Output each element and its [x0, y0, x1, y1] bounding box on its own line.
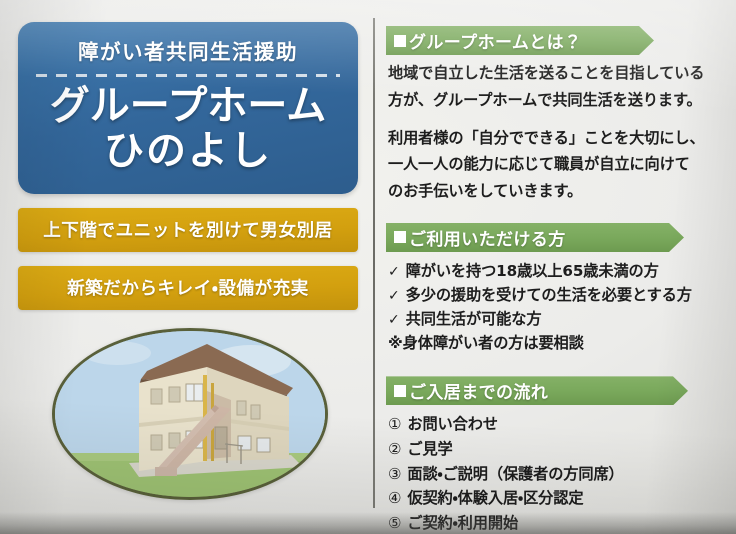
list-item-text: ご見学 [407, 437, 452, 461]
building-photo-area [18, 326, 358, 496]
list-item-text: ご契約・利用開始 [407, 511, 518, 534]
step-number-icon: ⑤ [388, 512, 401, 534]
check-icon: ✓ [388, 261, 400, 283]
paragraph-line: 一人一人の能力に応じて職員が自立に向けて [388, 153, 726, 176]
list-item: ⑤ ご契約・利用開始 [388, 511, 726, 534]
section-heading-2-text: ご利用いただける方 [409, 225, 566, 250]
section-admission-flow: ご入居までの流れ ① お問い合わせ ② ご見学 ③ 面談・ご説明（保護者の方同席… [386, 376, 726, 534]
section-heading-1-text: グループホームとは？ [409, 28, 581, 53]
feature-banner-1: 上下階でユニットを別けて男女別居 [18, 208, 358, 252]
feature-banner-2-label: 新築だからキレイ・設備が充実 [67, 279, 309, 299]
right-column: グループホームとは？ 地域で自立した生活を送ることを目指している 方が、グループ… [386, 26, 726, 534]
paragraph-line: 利用者様の「自分でできる」ことを大切にし、 [388, 127, 726, 150]
section-heading-bar-1: グループホームとは？ [386, 26, 726, 55]
section-heading-bar-3: ご入居までの流れ [386, 376, 726, 405]
title-subtitle: 障がい者共同生活援助 [32, 35, 344, 65]
building-illustration [55, 331, 325, 497]
check-icon: ✓ [388, 309, 400, 331]
list-item-text: お問い合わせ [407, 412, 498, 436]
list-item-text: 障がいを持つ18歳以上65歳未満の方 [406, 259, 659, 283]
list-item-text: 面談・ご説明（保護者の方同席） [407, 462, 623, 486]
left-column: 障がい者共同生活援助 グループホーム ひのよし 上下階でユニットを別けて男女別居… [18, 22, 358, 496]
step-number-icon: ② [388, 438, 401, 462]
column-divider [373, 18, 375, 508]
feature-banner-1-label: 上下階でユニットを別けて男女別居 [43, 221, 333, 241]
paragraph-line: 地域で自立した生活を送ることを目指している [388, 62, 726, 85]
section-heading-3-label-wrap: ご入居までの流れ [394, 376, 548, 405]
building-photo-oval-frame [52, 328, 328, 500]
reference-mark-icon: ※ [388, 331, 403, 355]
list-item-text: 多少の援助を受けての生活を必要とする方 [406, 283, 692, 307]
paragraph-line: のお手伝いをしていきます。 [388, 180, 726, 203]
feature-banner-2: 新築だからキレイ・設備が充実 [18, 266, 358, 310]
section-heading-1-label-wrap: グループホームとは？ [394, 26, 581, 55]
list-item: ② ご見学 [388, 437, 726, 462]
facility-name-line1: グループホーム [32, 84, 344, 129]
white-square-bullet-icon [394, 385, 406, 397]
list-item: ① お問い合わせ [388, 412, 726, 437]
section-what-is-group-home: グループホームとは？ 地域で自立した生活を送ることを目指している 方が、グループ… [386, 26, 726, 203]
step-number-icon: ④ [388, 487, 401, 511]
title-card: 障がい者共同生活援助 グループホーム ひのよし [18, 22, 358, 194]
list-item: ④ 仮契約・体験入居・区分認定 [388, 486, 726, 511]
check-icon: ✓ [388, 285, 400, 307]
list-item-text: 共同生活が可能な方 [406, 307, 542, 331]
paragraph-line: 方が、グループホームで共同生活を送ります。 [388, 89, 726, 112]
section-heading-3-text: ご入居までの流れ [409, 378, 548, 403]
white-square-bullet-icon [394, 231, 406, 243]
admission-flow-list: ① お問い合わせ ② ご見学 ③ 面談・ご説明（保護者の方同席） ④ 仮契約・体… [386, 412, 726, 534]
section-heading-2-label-wrap: ご利用いただける方 [394, 223, 566, 252]
brochure-page: 障がい者共同生活援助 グループホーム ひのよし 上下階でユニットを別けて男女別居… [0, 0, 736, 534]
list-item: ③ 面談・ご説明（保護者の方同席） [388, 462, 726, 487]
list-item-text: 仮契約・体験入居・区分認定 [407, 486, 583, 510]
dashed-divider [36, 74, 340, 77]
step-number-icon: ③ [388, 463, 401, 487]
list-item: ✓ 多少の援助を受けての生活を必要とする方 [388, 283, 726, 307]
step-number-icon: ① [388, 413, 401, 437]
white-square-bullet-icon [394, 35, 406, 47]
list-item: ✓ 共同生活が可能な方 [388, 307, 726, 331]
eligibility-note-text: 身体障がい者の方は要相談 [403, 331, 584, 355]
eligibility-list: ✓ 障がいを持つ18歳以上65歳未満の方 ✓ 多少の援助を受けての生活を必要とす… [386, 259, 726, 355]
section-eligibility: ご利用いただける方 ✓ 障がいを持つ18歳以上65歳未満の方 ✓ 多少の援助を受… [386, 223, 726, 355]
list-item: ✓ 障がいを持つ18歳以上65歳未満の方 [388, 259, 726, 283]
eligibility-note: ※ 身体障がい者の方は要相談 [388, 331, 726, 355]
facility-name-line2: ひのよし [32, 129, 344, 174]
section-heading-bar-2: ご利用いただける方 [386, 223, 726, 252]
